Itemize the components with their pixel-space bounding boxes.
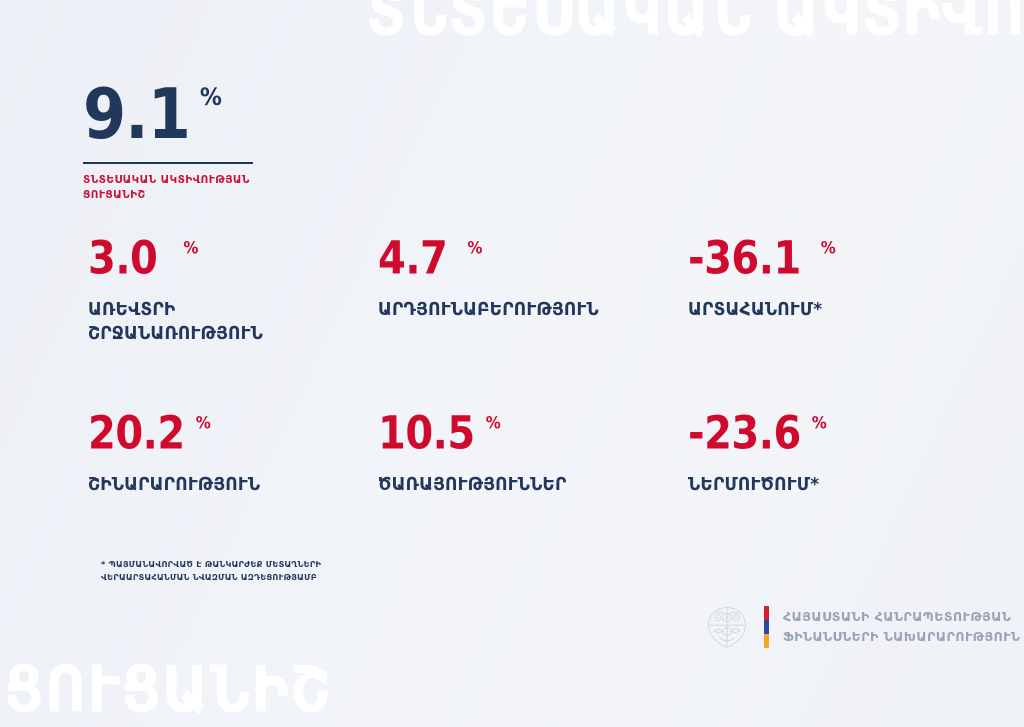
- kpi-value: -36.1: [688, 236, 801, 281]
- kpi-figure: 10.5 %: [378, 411, 688, 451]
- kpi-value: 3.0: [88, 236, 157, 281]
- kpi-export: -36.1 % ԱՐՏԱՀԱՆՈՒՄ*: [688, 236, 968, 411]
- kpi-label: ԱՐԴՅՈՒՆԱԲԵՐՈՒԹՅՈՒՆ: [378, 298, 618, 322]
- infographic-canvas: ՏՆՏԵՍԱԿԱՆ ԱԿՏԻՎՈՒԹՅԱՆ 9.1 % ՏՆՏԵՍԱԿԱՆ ԱԿ…: [0, 0, 1024, 727]
- kpi-figure: -36.1 %: [688, 236, 968, 276]
- ministry-logo: ՀԱՅԱՍՏԱՆԻ ՀԱՆՐԱՊԵՏՈՒԹՅԱՆ ՖԻՆԱՆՍՆԵՐԻ ՆԱԽԱ…: [704, 604, 1020, 650]
- kpi-label: ՆԵՐՄՈՒԾՈՒՄ*: [688, 473, 928, 497]
- kpi-label: ԾԱՌԱՅՈՒԹՅՈՒՆՆԵՐ: [378, 473, 618, 497]
- kpi-label: ԱՐՏԱՀԱՆՈՒՄ*: [688, 298, 928, 322]
- kpi-label: ՇԻՆԱՐԱՐՈՒԹՅՈՒՆ: [88, 473, 328, 497]
- ghost-headline-top: ՏՆՏԵՍԱԿԱՆ ԱԿՏԻՎՈՒԹՅԱՆ: [366, 0, 1024, 46]
- kpi-figure: 20.2 %: [88, 411, 378, 451]
- kpi-industry: 4.7 % ԱՐԴՅՈՒՆԱԲԵՐՈՒԹՅՈՒՆ: [378, 236, 688, 411]
- kpi-label: ԱՌԵՎՏՐԻ ՇՐՋԱՆԱՌՈՒԹՅՈՒՆ: [88, 298, 328, 346]
- kpi-percent-sign: %: [467, 238, 482, 258]
- kpi-grid: 3.0 % ԱՌԵՎՏՐԻ ՇՐՋԱՆԱՌՈՒԹՅՈՒՆ 4.7 % ԱՐԴՅՈ…: [88, 236, 968, 496]
- kpi-trade-turnover: 3.0 % ԱՌԵՎՏՐԻ ՇՐՋԱՆԱՌՈՒԹՅՈՒՆ: [88, 236, 378, 411]
- headline-value: 9.1: [83, 82, 190, 148]
- headline-percent-sign: %: [200, 84, 222, 112]
- headline-kpi: 9.1 % ՏՆՏԵՍԱԿԱՆ ԱԿՏԻՎՈՒԹՅԱՆ ՑՈՒՑԱՆԻՇ: [83, 82, 343, 203]
- kpi-construction: 20.2 % ՇԻՆԱՐԱՐՈՒԹՅՈՒՆ: [88, 411, 378, 496]
- kpi-percent-sign: %: [196, 413, 211, 433]
- kpi-value: 20.2: [88, 411, 185, 456]
- kpi-figure: 4.7 %: [378, 236, 688, 276]
- kpi-value: 10.5: [378, 411, 475, 456]
- kpi-percent-sign: %: [183, 238, 198, 258]
- kpi-percent-sign: %: [486, 413, 501, 433]
- kpi-figure: 3.0 %: [88, 236, 378, 276]
- footnote: * ՊԱՅՄԱՆԱՎՈՐՎԱԾ Է ԹԱՆԿԱՐԺԵՔ ՄԵՏԱՂՆԵՐԻ ՎԵ…: [101, 558, 351, 585]
- armenia-coat-of-arms-icon: [704, 604, 750, 650]
- kpi-percent-sign: %: [812, 413, 827, 433]
- armenian-tricolor-icon: [764, 606, 769, 648]
- ghost-headline-bottom: ՑՈՒՑԱՆԻՇ: [4, 659, 331, 723]
- headline-figure: 9.1 %: [83, 82, 343, 144]
- kpi-percent-sign: %: [821, 238, 836, 258]
- kpi-value: -23.6: [688, 411, 801, 456]
- kpi-value: 4.7: [378, 236, 447, 281]
- kpi-services: 10.5 % ԾԱՌԱՅՈՒԹՅՈՒՆՆԵՐ: [378, 411, 688, 496]
- kpi-import: -23.6 % ՆԵՐՄՈՒԾՈՒՄ*: [688, 411, 968, 496]
- kpi-figure: -23.6 %: [688, 411, 968, 451]
- headline-label: ՏՆՏԵՍԱԿԱՆ ԱԿՏԻՎՈՒԹՅԱՆ ՑՈՒՑԱՆԻՇ: [83, 173, 263, 203]
- ministry-logo-line2: ՖԻՆԱՆՍՆԵՐԻ ՆԱԽԱՐԱՐՈՒԹՅՈՒՆ: [783, 629, 1020, 644]
- ministry-logo-text: ՀԱՅԱՍՏԱՆԻ ՀԱՆՐԱՊԵՏՈՒԹՅԱՆ ՖԻՆԱՆՍՆԵՐԻ ՆԱԽԱ…: [783, 607, 1020, 648]
- ministry-logo-line1: ՀԱՅԱՍՏԱՆԻ ՀԱՆՐԱՊԵՏՈՒԹՅԱՆ: [783, 609, 1011, 624]
- headline-divider: [83, 162, 253, 164]
